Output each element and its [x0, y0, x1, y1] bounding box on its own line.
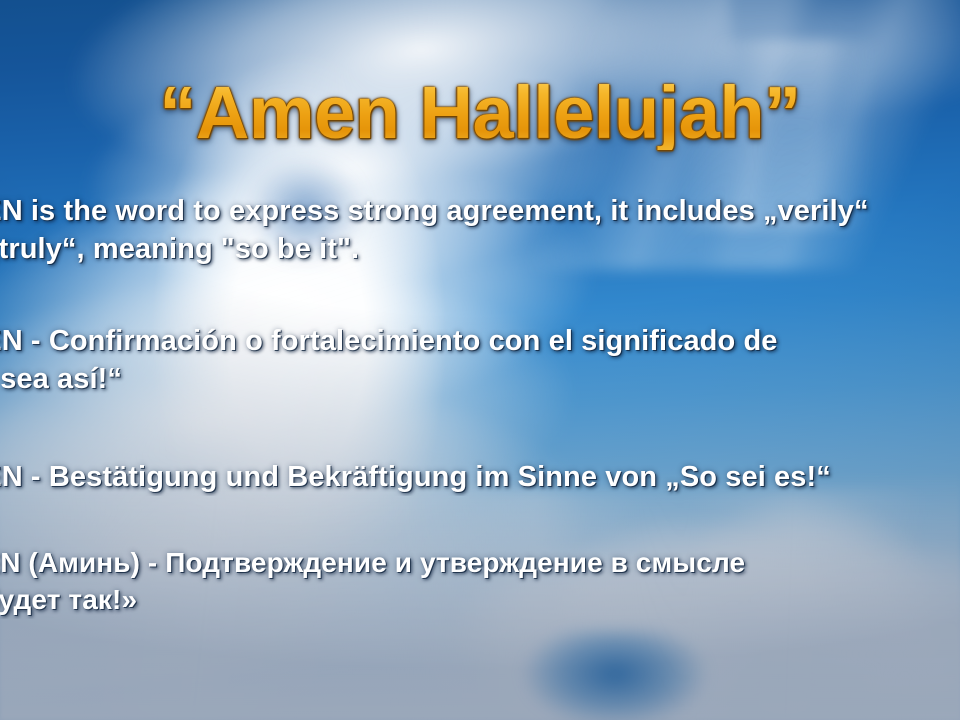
- paragraph-english: MEN is the word to express strong agreem…: [0, 192, 942, 269]
- page-title: “Amen Hallelujah”: [0, 76, 960, 150]
- paragraph-russian: MEN (Аминь) - Подтверждение и утверждени…: [0, 545, 942, 619]
- slide-canvas: “Amen Hallelujah” MEN is the word to exp…: [0, 0, 960, 720]
- paragraph-german: MEN - Bestätigung und Bekräftigung im Si…: [0, 458, 942, 496]
- paragraph-spanish: MEN - Confirmación o fortalecimiento con…: [0, 322, 942, 399]
